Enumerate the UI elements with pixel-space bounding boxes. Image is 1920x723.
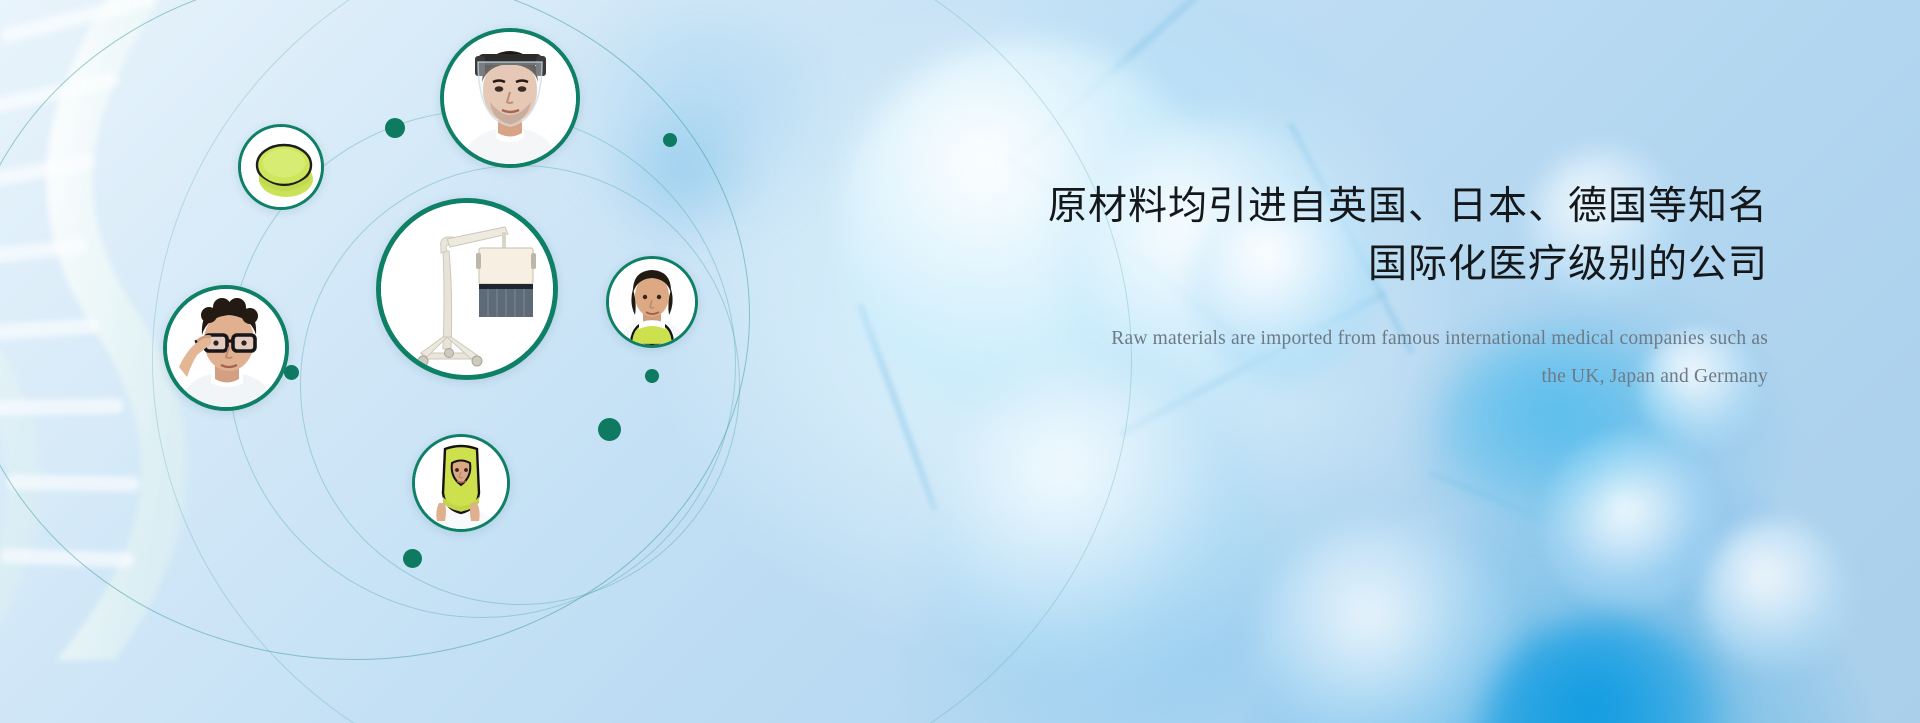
lead-hood-photo [415,437,507,529]
orbit-ring-wide [152,0,1132,723]
bubble-lead-hood[interactable] [412,434,510,532]
orbit-node-dot-2 [663,133,677,147]
bubble-doctor-head-shield[interactable] [440,28,580,168]
orbit-node-dot-3 [284,365,299,380]
bubble-mobile-xray-shield[interactable] [376,198,558,380]
orbit-node-dot-4 [645,369,659,383]
subtitle-block: Raw materials are imported from famous i… [988,320,1768,396]
doctor-head-shield-photo [444,32,576,164]
subtitle-line-1: Raw materials are imported from famous i… [988,320,1768,358]
headline-line-2: 国际化医疗级别的公司 [988,236,1768,294]
headline-line-1: 原材料均引进自英国、日本、德国等知名 [988,178,1768,236]
banner-copy: 原材料均引进自英国、日本、德国等知名 国际化医疗级别的公司 Raw materi… [988,178,1768,396]
bubble-doctor-lead-glasses[interactable] [163,285,289,411]
doctor-lead-glasses-photo [167,289,285,407]
thyroid-collar-photo [609,259,695,345]
orbit-node-dot-1 [385,118,405,138]
lead-cap-photo [241,127,321,207]
orbit-node-dot-6 [403,549,422,568]
mobile-xray-shield-photo [381,203,553,375]
bubble-thyroid-collar[interactable] [606,256,698,348]
orbit-node-dot-5 [598,418,621,441]
bubble-lead-cap[interactable] [238,124,324,210]
hero-banner: 原材料均引进自英国、日本、德国等知名 国际化医疗级别的公司 Raw materi… [0,0,1920,723]
subtitle-line-2: the UK, Japan and Germany [988,358,1768,396]
orbit-ring-mid [259,124,781,646]
